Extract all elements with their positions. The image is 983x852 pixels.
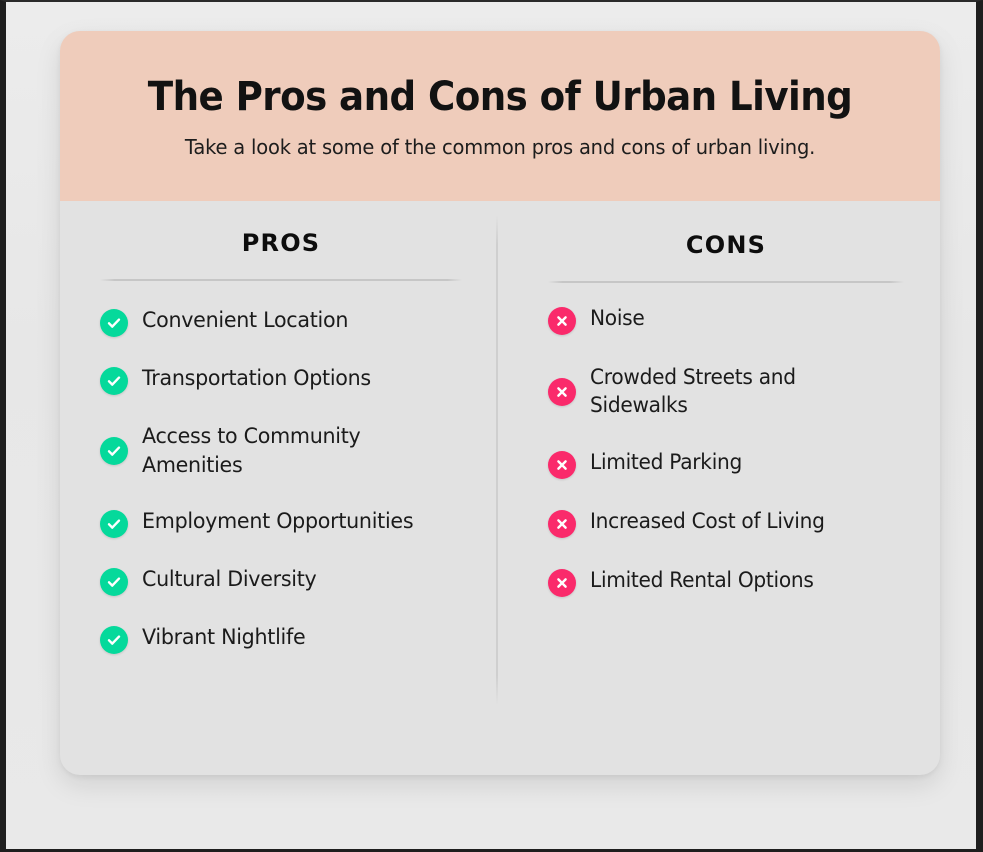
card-body: PROS Convenient Location	[60, 201, 940, 775]
page-subtitle: Take a look at some of the common pros a…	[82, 135, 918, 159]
list-item-label: Increased Cost of Living	[590, 508, 825, 536]
pros-column: PROS Convenient Location	[60, 201, 496, 775]
list-item-label: Limited Parking	[590, 449, 742, 477]
list-item[interactable]: Access to Community Amenities	[100, 423, 462, 480]
list-item-label: Transportation Options	[142, 365, 371, 394]
x-circle-icon	[548, 569, 576, 597]
x-circle-icon	[548, 451, 576, 479]
card-header: The Pros and Cons of Urban Living Take a…	[60, 31, 940, 201]
x-circle-icon	[548, 378, 576, 406]
list-item[interactable]: Transportation Options	[100, 365, 462, 395]
check-circle-icon	[100, 437, 128, 465]
list-item-label: Employment Opportunities	[142, 508, 413, 537]
pros-cons-card: The Pros and Cons of Urban Living Take a…	[60, 31, 940, 775]
list-item[interactable]: Noise	[548, 305, 904, 335]
check-circle-icon	[100, 510, 128, 538]
x-circle-icon	[548, 510, 576, 538]
list-item-label: Vibrant Nightlife	[142, 624, 305, 653]
page-title: The Pros and Cons of Urban Living	[91, 75, 909, 119]
check-circle-icon	[100, 367, 128, 395]
list-item-label: Convenient Location	[142, 307, 348, 336]
list-item[interactable]: Limited Rental Options	[548, 567, 904, 597]
check-circle-icon	[100, 568, 128, 596]
cons-column: CONS Noise	[496, 201, 940, 775]
list-item-label: Crowded Streets and Sidewalks	[590, 364, 891, 420]
pros-heading-rule	[100, 279, 462, 281]
list-item-label: Cultural Diversity	[142, 566, 316, 595]
check-circle-icon	[100, 309, 128, 337]
list-item[interactable]: Convenient Location	[100, 307, 462, 337]
cons-column-heading: CONS	[548, 231, 904, 259]
list-item[interactable]: Cultural Diversity	[100, 566, 462, 596]
cons-list: Noise Crowded Streets and Sidewalks	[548, 305, 904, 597]
pros-column-heading: PROS	[100, 229, 462, 257]
check-circle-icon	[100, 626, 128, 654]
list-item-label: Access to Community Amenities	[142, 423, 449, 480]
list-item[interactable]: Vibrant Nightlife	[100, 624, 462, 654]
list-item-label: Noise	[590, 305, 644, 333]
pros-list: Convenient Location Transportation Optio…	[100, 307, 462, 654]
list-item[interactable]: Limited Parking	[548, 449, 904, 479]
x-circle-icon	[548, 307, 576, 335]
list-item[interactable]: Increased Cost of Living	[548, 508, 904, 538]
list-item[interactable]: Employment Opportunities	[100, 508, 462, 538]
page-canvas: The Pros and Cons of Urban Living Take a…	[0, 0, 983, 852]
list-item-label: Limited Rental Options	[590, 567, 814, 595]
list-item[interactable]: Crowded Streets and Sidewalks	[548, 364, 904, 420]
page-background: The Pros and Cons of Urban Living Take a…	[6, 2, 976, 849]
cons-heading-rule	[548, 281, 904, 283]
